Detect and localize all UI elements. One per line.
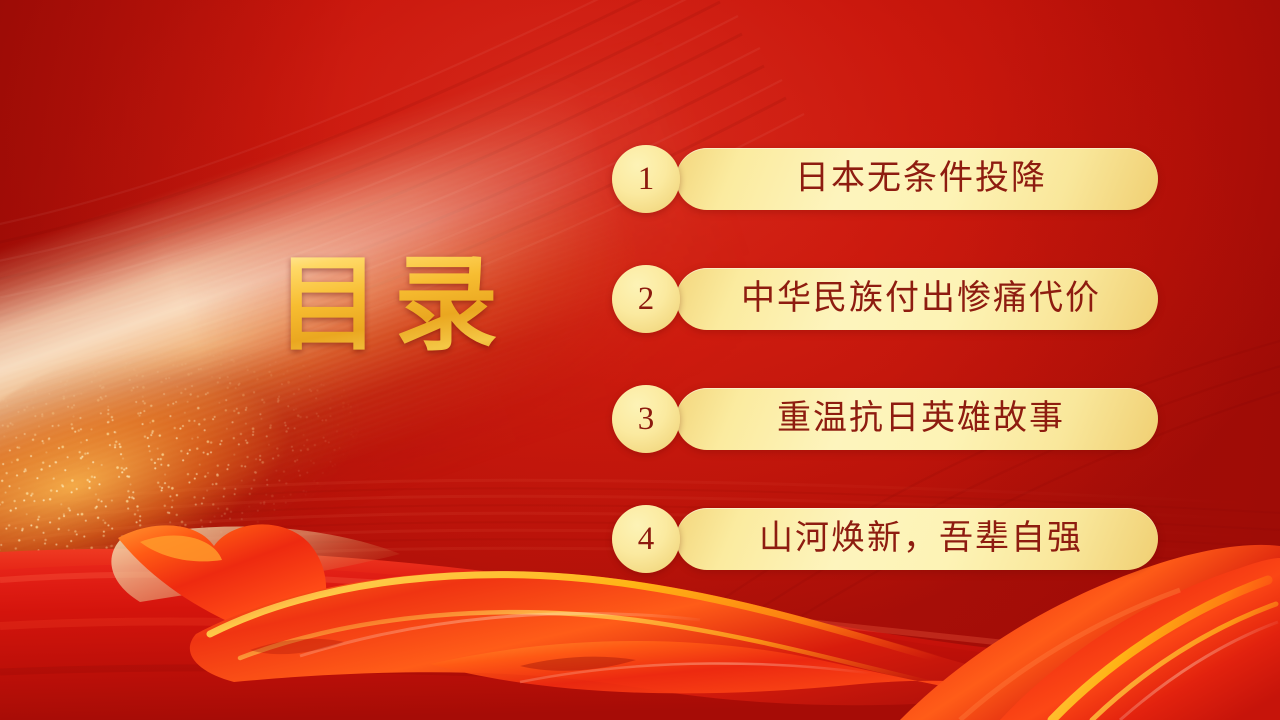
agenda-label-2: 中华民族付出惨痛代价 <box>733 282 1101 316</box>
agenda-item-4[interactable]: 4 山河焕新，吾辈自强 <box>612 505 1158 573</box>
agenda-item-1[interactable]: 1 日本无条件投降 <box>612 145 1158 213</box>
agenda-item-2[interactable]: 2 中华民族付出惨痛代价 <box>612 265 1158 333</box>
agenda-list: 1 日本无条件投降 2 中华民族付出惨痛代价 3 重温抗日英雄故事 4 山河焕新… <box>0 0 1280 720</box>
agenda-number-badge-3: 3 <box>612 385 680 453</box>
agenda-number-badge-1: 1 <box>612 145 680 213</box>
agenda-label-3: 重温抗日英雄故事 <box>769 402 1065 436</box>
agenda-label-1: 日本无条件投降 <box>787 162 1047 196</box>
agenda-pill-4[interactable]: 山河焕新，吾辈自强 <box>676 508 1158 570</box>
slide-canvas: 目录 1 日本无条件投降 2 中华民族付出惨痛代价 3 重温抗日英雄故事 4 山… <box>0 0 1280 720</box>
agenda-label-4: 山河焕新，吾辈自强 <box>751 522 1083 556</box>
agenda-pill-3[interactable]: 重温抗日英雄故事 <box>676 388 1158 450</box>
agenda-pill-1[interactable]: 日本无条件投降 <box>676 148 1158 210</box>
agenda-pill-2[interactable]: 中华民族付出惨痛代价 <box>676 268 1158 330</box>
agenda-number-badge-4: 4 <box>612 505 680 573</box>
agenda-number-badge-2: 2 <box>612 265 680 333</box>
agenda-item-3[interactable]: 3 重温抗日英雄故事 <box>612 385 1158 453</box>
